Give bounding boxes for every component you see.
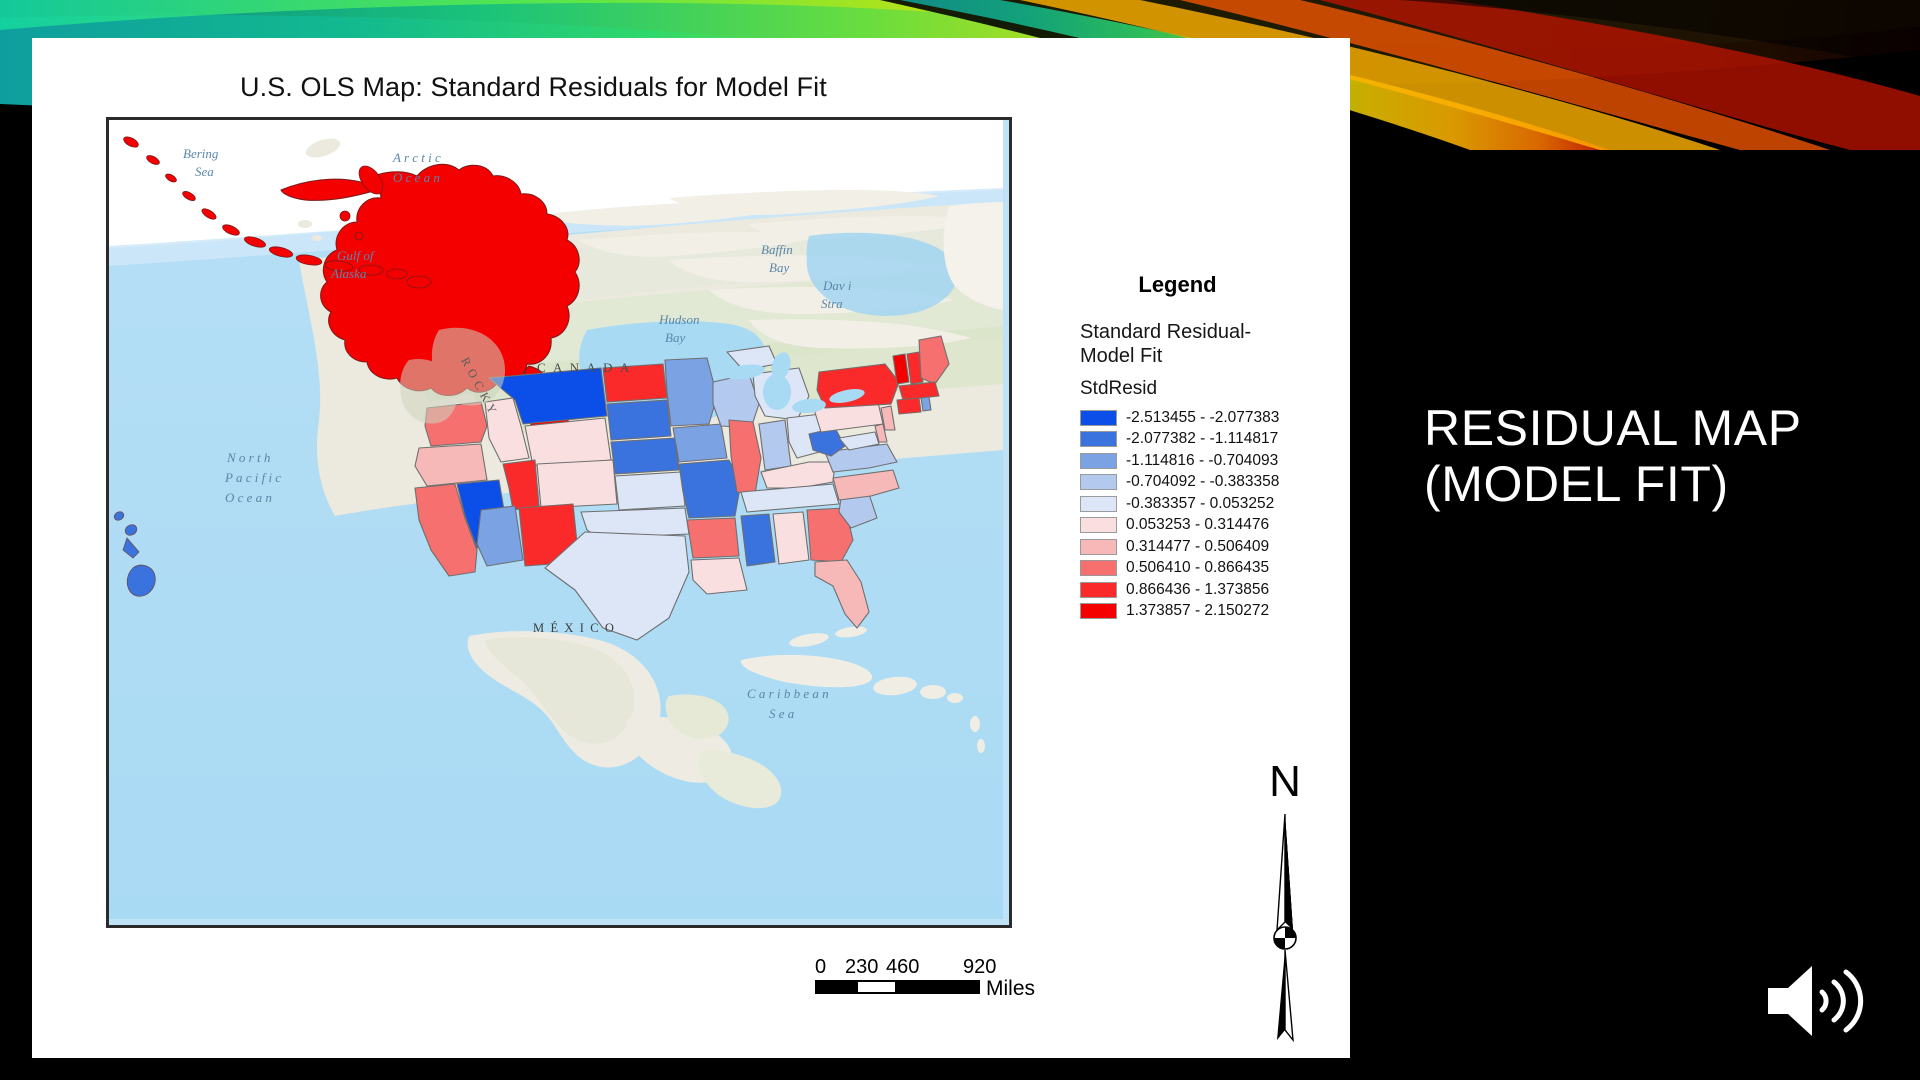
svg-text:O c e a n: O c e a n [225,490,272,505]
legend-color-swatch [1080,582,1117,598]
scale-bar: 0230460920 Miles [815,956,1030,994]
legend-class-row: -1.114816 - -0.704093 [1080,450,1330,472]
svg-text:Alaska: Alaska [330,266,367,281]
legend-color-swatch [1080,474,1117,490]
svg-text:C a r i b b e a n: C a r i b b e a n [747,686,829,701]
svg-text:Hudson: Hudson [658,312,699,327]
legend-color-swatch [1080,496,1117,512]
legend-class-label: 0.053253 - 0.314476 [1126,516,1269,534]
legend-color-swatch [1080,410,1117,426]
speaker-audio-icon[interactable] [1762,960,1872,1042]
legend-color-swatch [1080,453,1117,469]
legend-class-label: 0.506410 - 0.866435 [1126,559,1269,577]
map-legend: Legend Standard Residual-Model Fit StdRe… [1080,272,1330,622]
svg-text:A r c t i c: A r c t i c [392,150,441,165]
svg-text:S e a: S e a [769,706,795,721]
legend-class-label: 0.866436 - 1.373856 [1126,581,1269,599]
slide-heading: RESIDUAL MAP (MODEL FIT) [1424,400,1894,512]
legend-class-label: 0.314477 - 0.506409 [1126,538,1269,556]
north-arrow: N [1255,760,1315,1040]
scale-bar-tick: 460 [886,956,919,979]
scale-bar-tick: 230 [845,956,878,979]
map-title: U.S. OLS Map: Standard Residuals for Mod… [240,72,827,103]
svg-text:O c e a n: O c e a n [393,170,440,185]
legend-subtitle: Standard Residual-Model Fit [1080,320,1295,369]
svg-text:Baffin: Baffin [761,242,793,257]
legend-class-label: -0.383357 - 0.053252 [1126,495,1274,513]
north-arrow-label: N [1255,760,1315,804]
legend-class-label: -1.114816 - -0.704093 [1126,452,1278,470]
legend-color-swatch [1080,431,1117,447]
legend-class-row: -0.704092 - -0.383358 [1080,471,1330,493]
svg-text:P a c i f i c: P a c i f i c [224,470,281,485]
svg-text:Gulf of: Gulf of [337,248,376,263]
scale-bar-unit: Miles [986,977,1035,1001]
legend-title: Legend [1080,272,1275,298]
svg-text:Bay: Bay [665,330,685,345]
legend-class-label: -2.077382 - -1.114817 [1126,430,1278,448]
legend-color-swatch [1080,603,1117,619]
legend-class-row: 0.866436 - 1.373856 [1080,579,1330,601]
slide-heading-line1: RESIDUAL MAP [1424,400,1894,456]
legend-class-row: -0.383357 - 0.053252 [1080,493,1330,515]
legend-class-label: 1.373857 - 2.150272 [1126,602,1269,620]
svg-text:Sea: Sea [195,164,214,179]
legend-class-label: -0.704092 - -0.383358 [1126,473,1279,491]
legend-class-list: -2.513455 - -2.077383-2.077382 - -1.1148… [1080,407,1330,622]
svg-text:Bay: Bay [769,260,789,275]
svg-text:N o r t h: N o r t h [226,450,270,465]
scale-bar-tick: 0 [815,956,826,979]
svg-text:M É X I C O: M É X I C O [533,621,616,635]
legend-color-swatch [1080,560,1117,576]
legend-color-swatch [1080,539,1117,555]
legend-field-name: StdResid [1080,378,1330,400]
legend-class-row: 1.373857 - 2.150272 [1080,600,1330,622]
svg-text:Dav i: Dav i [822,278,852,293]
map-canvas[interactable]: Bering Sea A r c t i c O c e a n Baffin … [106,117,1012,928]
legend-color-swatch [1080,517,1117,533]
legend-class-label: -2.513455 - -2.077383 [1126,409,1279,427]
legend-class-row: -2.077382 - -1.114817 [1080,428,1330,450]
svg-text:C A N A D A: C A N A D A [537,360,632,375]
slide-heading-line2: (MODEL FIT) [1424,456,1894,512]
legend-class-row: 0.053253 - 0.314476 [1080,514,1330,536]
scale-bar-tick: 920 [963,956,996,979]
legend-class-row: 0.314477 - 0.506409 [1080,536,1330,558]
scale-bar-graphic: Miles [815,980,980,994]
legend-class-row: 0.506410 - 0.866435 [1080,557,1330,579]
svg-text:Stra: Stra [821,296,843,311]
legend-class-row: -2.513455 - -2.077383 [1080,407,1330,429]
svg-text:Bering: Bering [183,146,219,161]
